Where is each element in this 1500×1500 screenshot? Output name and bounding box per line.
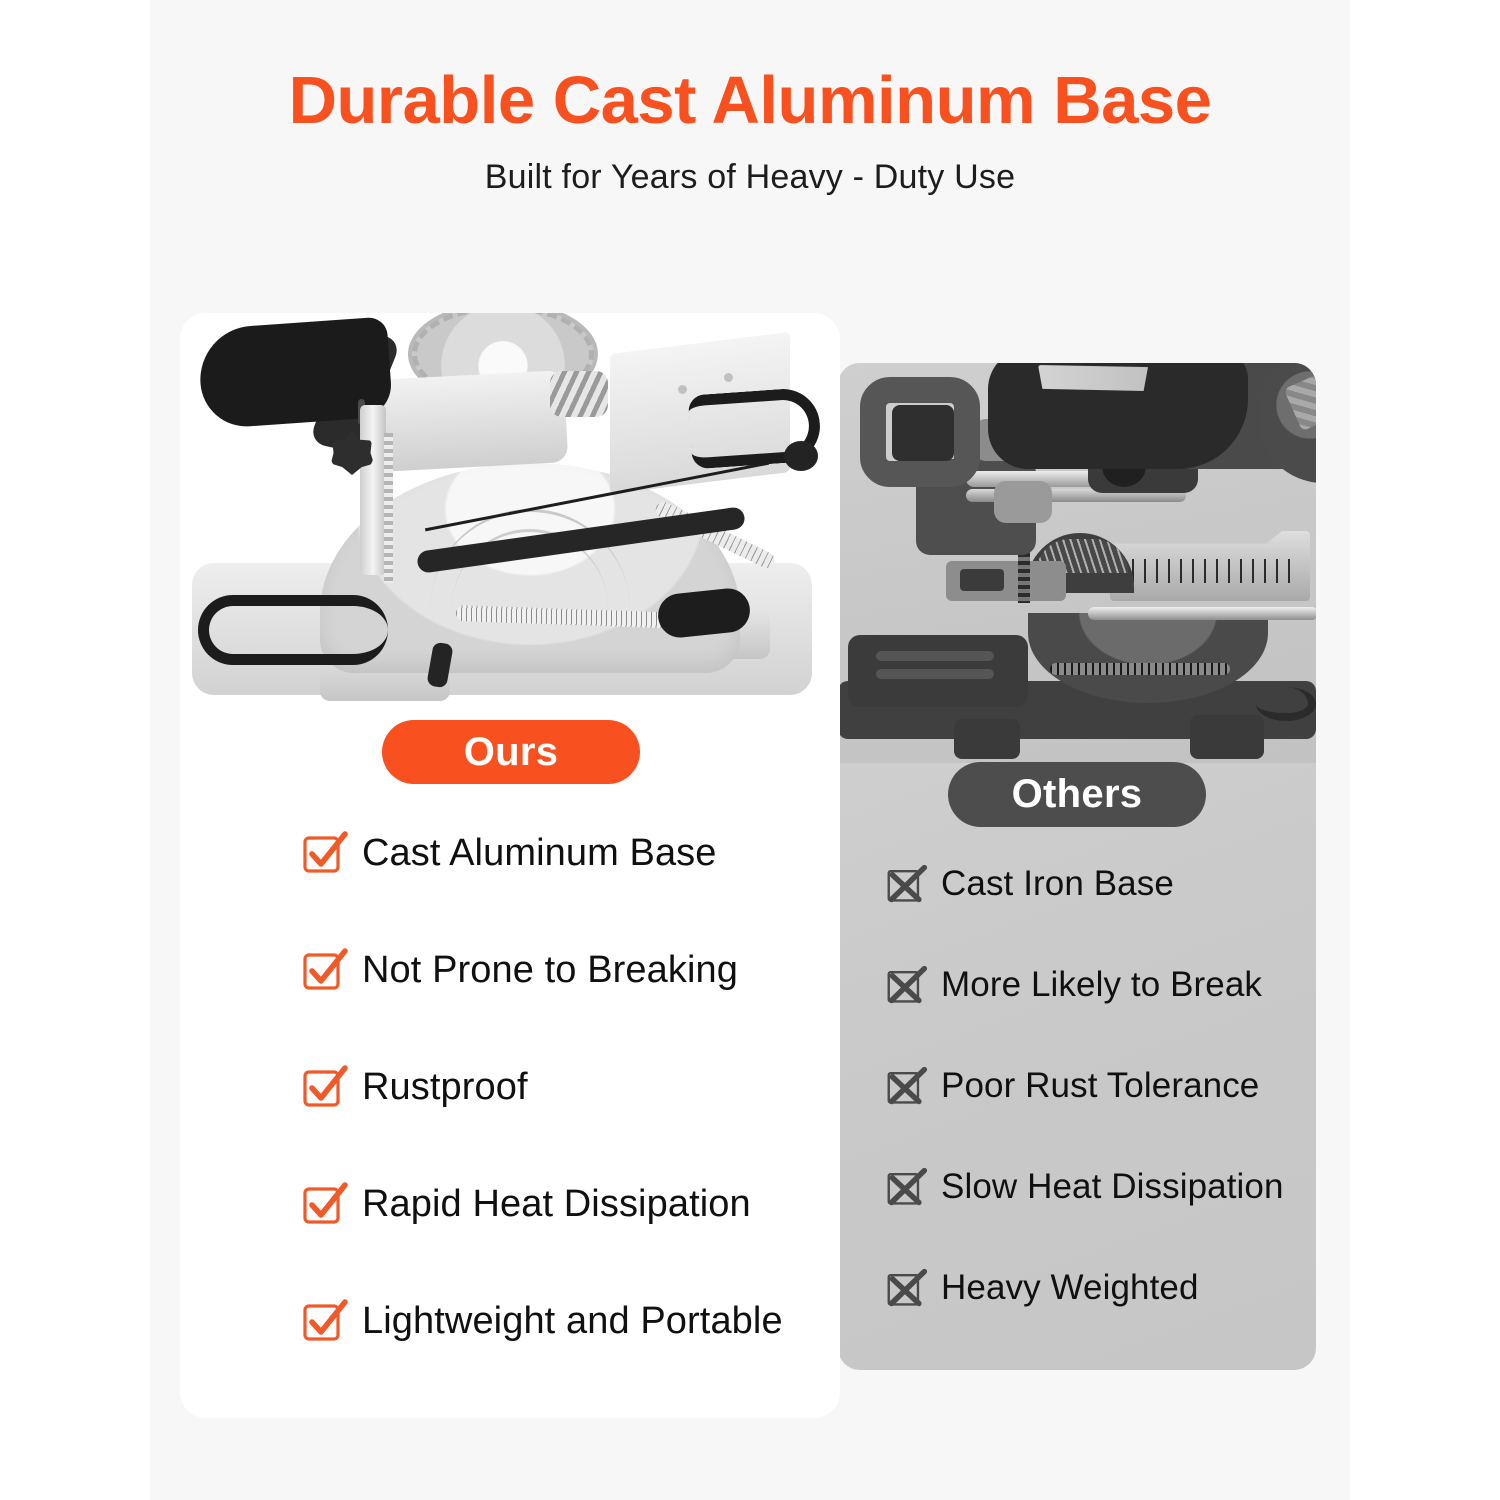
others-badge: Others — [948, 762, 1206, 827]
check-box-icon — [302, 1298, 348, 1344]
header: Durable Cast Aluminum Base Built for Yea… — [150, 0, 1350, 197]
list-item: Poor Rust Tolerance — [886, 1061, 1306, 1111]
cross-box-icon — [886, 1166, 928, 1208]
saw-fence-hole-2 — [724, 373, 733, 382]
others-badge-label: Others — [1012, 772, 1143, 817]
cross-box-icon — [886, 1065, 928, 1107]
list-item-label: Slow Heat Dissipation — [941, 1167, 1284, 1207]
others-product-photo — [838, 363, 1316, 763]
content-area: Durable Cast Aluminum Base Built for Yea… — [150, 0, 1350, 1500]
list-item-label: Cast Iron Base — [941, 864, 1174, 904]
competitor-bag-logo — [1038, 365, 1148, 391]
others-panel: Others Cast Iron Base — [838, 363, 1316, 1370]
list-item: More Likely to Break — [886, 960, 1306, 1010]
list-item-label: Poor Rust Tolerance — [941, 1066, 1259, 1106]
list-item-label: Heavy Weighted — [941, 1268, 1199, 1308]
competitor-knob-mid — [994, 481, 1052, 523]
saw-lever-2 — [784, 441, 818, 471]
competitor-foot-ridge — [876, 651, 994, 661]
list-item: Rapid Heat Dissipation — [302, 1176, 822, 1232]
list-item: Not Prone to Breaking — [302, 942, 822, 998]
cross-box-icon — [886, 863, 928, 905]
ours-panel: Ours Cast Aluminum Base Not Prone to Bre — [180, 313, 840, 1418]
list-item: Lightweight and Portable — [302, 1293, 822, 1349]
competitor-leg-2 — [1190, 715, 1264, 759]
check-box-icon — [302, 947, 348, 993]
list-item: Cast Iron Base — [886, 859, 1306, 909]
ours-badge: Ours — [382, 720, 640, 784]
cross-box-icon — [886, 1267, 928, 1309]
list-item: Slow Heat Dissipation — [886, 1162, 1306, 1212]
list-item: Cast Aluminum Base — [302, 825, 822, 881]
competitor-ruler-ticks — [1120, 559, 1298, 583]
saw-head — [374, 370, 569, 472]
page-subtitle: Built for Years of Heavy - Duty Use — [150, 158, 1350, 197]
list-item: Heavy Weighted — [886, 1263, 1306, 1313]
list-item: Rustproof — [302, 1059, 822, 1115]
others-feature-list: Cast Iron Base More Likely to Break — [886, 859, 1306, 1313]
competitor-plate-window — [960, 569, 1004, 591]
competitor-slide-rail — [1088, 607, 1316, 620]
competitor-leg — [954, 719, 1020, 759]
check-box-icon — [302, 1064, 348, 1110]
product-comparison-page: Durable Cast Aluminum Base Built for Yea… — [0, 0, 1500, 1500]
saw-post — [360, 405, 386, 575]
competitor-foot-ridge-2 — [876, 669, 994, 679]
list-item-label: Rustproof — [362, 1066, 528, 1109]
list-item-label: Not Prone to Breaking — [362, 949, 738, 992]
list-item-label: Cast Aluminum Base — [362, 832, 717, 875]
check-box-icon — [302, 1181, 348, 1227]
competitor-handle-hole — [892, 405, 954, 461]
check-box-icon — [302, 830, 348, 876]
saw-spring — [550, 371, 608, 417]
saw-fence-hole — [678, 385, 687, 394]
saw-handle-left — [198, 595, 388, 665]
saw-threaded-rod — [384, 433, 393, 583]
list-item-label: Rapid Heat Dissipation — [362, 1183, 751, 1226]
list-item-label: More Likely to Break — [941, 965, 1262, 1005]
page-title: Durable Cast Aluminum Base — [150, 66, 1350, 136]
ours-product-photo — [180, 313, 840, 713]
ours-feature-list: Cast Aluminum Base Not Prone to Breaking… — [302, 825, 822, 1349]
competitor-miter-scale — [1050, 663, 1230, 675]
competitor-power-cord — [1256, 687, 1316, 721]
ours-badge-label: Ours — [464, 730, 559, 775]
cross-box-icon — [886, 964, 928, 1006]
list-item-label: Lightweight and Portable — [362, 1300, 783, 1343]
